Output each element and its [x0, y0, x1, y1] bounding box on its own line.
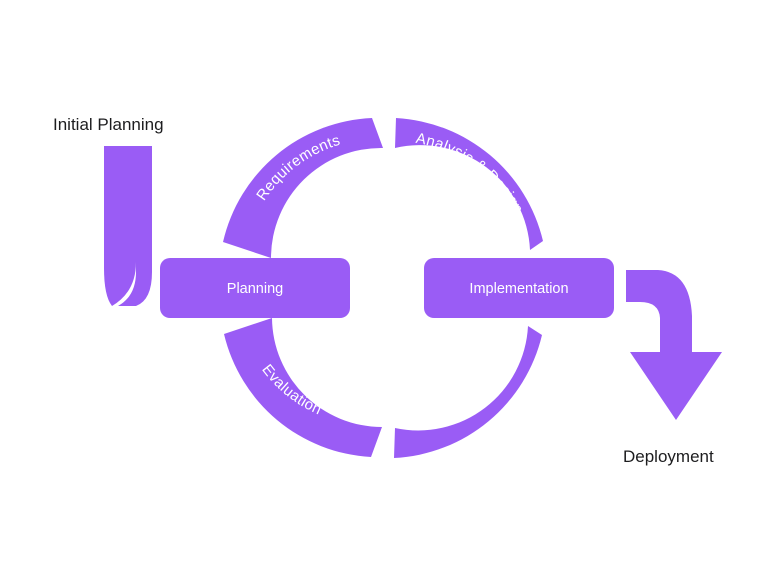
arc-requirements [223, 118, 383, 258]
initial-planning-label: Initial Planning [53, 115, 164, 134]
box-implementation-label: Implementation [469, 281, 568, 297]
box-implementation[interactable]: Implementation [424, 258, 614, 318]
arc-evaluation [224, 318, 382, 457]
box-planning[interactable]: Planning [160, 258, 350, 318]
deployment-label: Deployment [623, 447, 714, 466]
initial-planning-arrow [104, 146, 152, 306]
diagram-canvas: Planning Implementation Requirements Ana… [0, 0, 768, 576]
box-planning-label: Planning [227, 281, 283, 297]
arc-testing-label: Testing [433, 372, 484, 409]
deployment-arrow [626, 270, 722, 420]
cycle-diagram: Planning Implementation Requirements Ana… [0, 0, 768, 576]
